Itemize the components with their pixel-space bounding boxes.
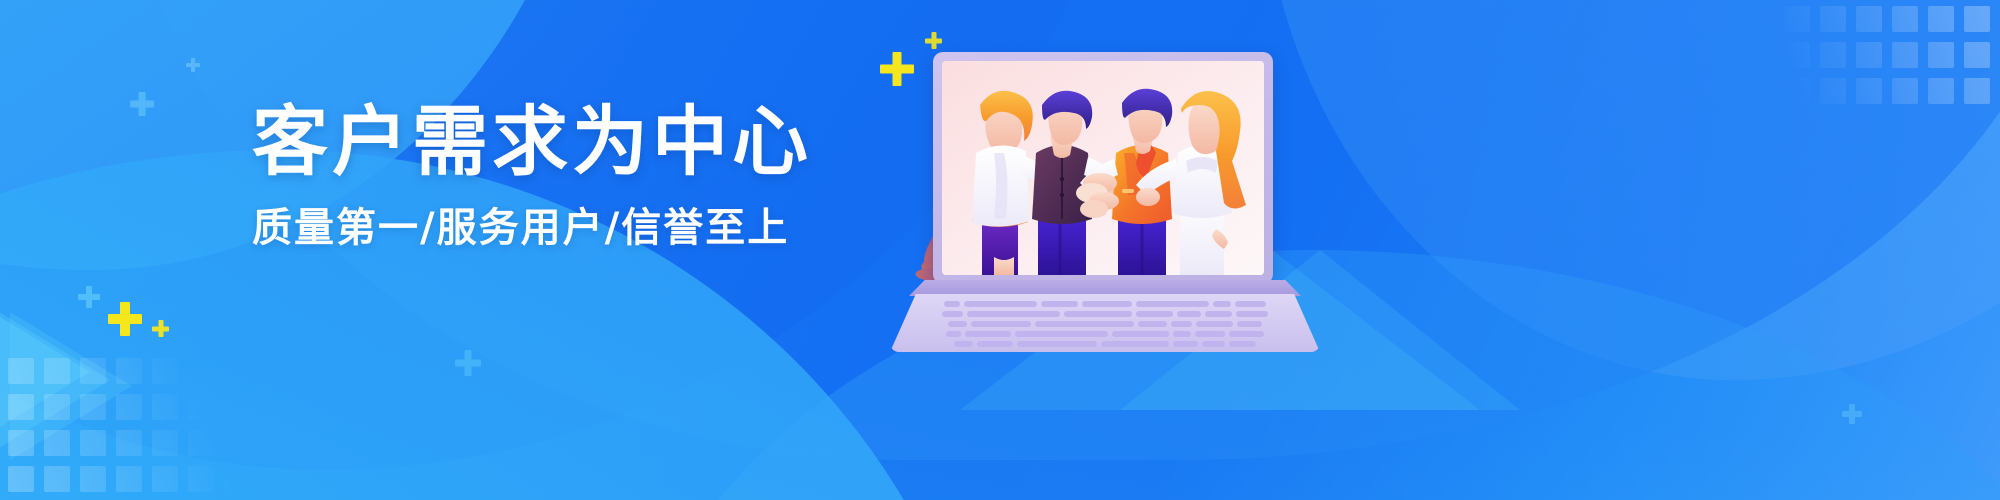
grid-square — [1748, 78, 1774, 104]
keyboard-key — [1035, 321, 1134, 327]
keyboard-key — [1015, 331, 1108, 337]
grid-square — [1892, 6, 1918, 32]
plus-yellow-large-bottom-icon — [108, 302, 142, 336]
keyboard-key — [971, 321, 1032, 327]
plus-cyan-bottom-left-icon — [78, 286, 100, 308]
grid-square — [1748, 6, 1774, 32]
grid-square — [116, 394, 142, 420]
laptop-hinge — [909, 280, 1301, 296]
promo-banner: 客户需求为中心 质量第一/服务用户/信誉至上 — [0, 0, 2000, 500]
grid-square — [8, 430, 34, 456]
keyboard-key — [1213, 301, 1232, 307]
keyboard-key — [1101, 341, 1169, 347]
grid-square — [8, 466, 34, 492]
bg-chevron-1 — [0, 262, 90, 482]
grid-square — [116, 466, 142, 492]
keyboard-key — [1082, 301, 1132, 307]
grid-square — [188, 394, 214, 420]
grid-square — [224, 394, 250, 420]
keyboard-key — [1202, 341, 1224, 347]
grid-square — [80, 466, 106, 492]
laptop-screen — [942, 61, 1264, 275]
keyboard-row — [916, 301, 1294, 307]
keyboard-key — [948, 321, 967, 327]
grid-square — [80, 430, 106, 456]
keyboard-key — [1112, 331, 1169, 337]
keyboard-row — [916, 321, 1294, 327]
grid-square — [152, 394, 178, 420]
keyboard-key — [1205, 311, 1232, 317]
banner-subline: 质量第一/服务用户/信誉至上 — [252, 208, 892, 248]
bg-chevron-2 — [0, 288, 110, 472]
plus-cyan-right-icon — [1842, 404, 1862, 424]
grid-square — [224, 430, 250, 456]
keyboard-key — [1229, 331, 1264, 337]
square-grid-bottom-left — [8, 358, 250, 492]
grid-square — [1928, 42, 1954, 68]
keyboard-key — [942, 311, 963, 317]
grid-square — [116, 358, 142, 384]
grid-square — [1928, 78, 1954, 104]
plus-cyan-mid-left-icon — [130, 92, 154, 116]
plus-cyan-center-icon — [455, 350, 481, 376]
grid-square — [44, 358, 70, 384]
bg-chevron-3 — [10, 312, 132, 460]
grid-square — [224, 466, 250, 492]
keyboard-key — [965, 331, 1011, 337]
keyboard-key — [1235, 301, 1266, 307]
teamwork-scene-svg — [942, 61, 1264, 275]
keyboard-key — [964, 301, 1037, 307]
keyboard-key — [1064, 311, 1132, 317]
keyboard-key — [1173, 341, 1198, 347]
keyboard-row — [916, 331, 1294, 337]
laptop-base — [905, 280, 1305, 352]
plus-yellow-small-bottom-icon — [152, 320, 169, 337]
keyboard-key — [1236, 311, 1268, 317]
grid-square — [188, 358, 214, 384]
keyboard-key — [1138, 321, 1167, 327]
banner-headline: 客户需求为中心 — [252, 104, 892, 180]
grid-square — [1820, 6, 1846, 32]
keyboard-key — [1171, 321, 1192, 327]
keyboard-key — [1177, 311, 1201, 317]
grid-square — [1820, 42, 1846, 68]
keyboard-key — [1229, 341, 1256, 347]
plus-yellow-small-top-icon — [925, 32, 942, 49]
keyboard-key — [1041, 301, 1078, 307]
keyboard-row — [916, 341, 1294, 347]
grid-square — [1784, 78, 1810, 104]
grid-square — [1892, 78, 1918, 104]
grid-square — [1964, 78, 1990, 104]
grid-square — [152, 430, 178, 456]
grid-square — [44, 466, 70, 492]
grid-square — [188, 466, 214, 492]
grid-square — [1856, 6, 1882, 32]
keyboard-key — [967, 311, 1060, 317]
grid-square — [1928, 6, 1954, 32]
keyboard-key — [1237, 321, 1262, 327]
grid-square — [1784, 6, 1810, 32]
grid-square — [44, 394, 70, 420]
keyboard-key — [954, 341, 973, 347]
keyboard-key — [977, 341, 1013, 347]
grid-square — [1964, 42, 1990, 68]
grid-square — [1856, 42, 1882, 68]
laptop-lid — [933, 52, 1273, 284]
grid-square — [1820, 78, 1846, 104]
grid-square — [116, 430, 142, 456]
grid-square — [152, 358, 178, 384]
keyboard-key — [946, 331, 961, 337]
grid-square — [1892, 42, 1918, 68]
grid-square — [8, 358, 34, 384]
grid-square — [80, 358, 106, 384]
square-grid-top-right — [1748, 6, 1990, 104]
plus-cyan-upper-left-icon — [186, 58, 200, 72]
grid-square — [152, 466, 178, 492]
grid-square — [188, 430, 214, 456]
keyboard-key — [1195, 331, 1225, 337]
laptop-illustration — [905, 52, 1305, 352]
keyboard-key — [1136, 311, 1173, 317]
keyboard-key — [1017, 341, 1098, 347]
keyboard-key — [1173, 331, 1192, 337]
grid-square — [8, 394, 34, 420]
grid-square — [1784, 42, 1810, 68]
laptop-keyboard — [890, 294, 1320, 352]
banner-copy: 客户需求为中心 质量第一/服务用户/信誉至上 — [252, 104, 892, 248]
grid-square — [80, 394, 106, 420]
grid-square — [1856, 78, 1882, 104]
keyboard-key — [1196, 321, 1233, 327]
keyboard-row — [916, 311, 1294, 317]
grid-square — [1964, 6, 1990, 32]
grid-square — [44, 430, 70, 456]
keyboard-key — [1136, 301, 1209, 307]
keyboard-key — [944, 301, 960, 307]
grid-square — [1748, 42, 1774, 68]
grid-square — [224, 358, 250, 384]
